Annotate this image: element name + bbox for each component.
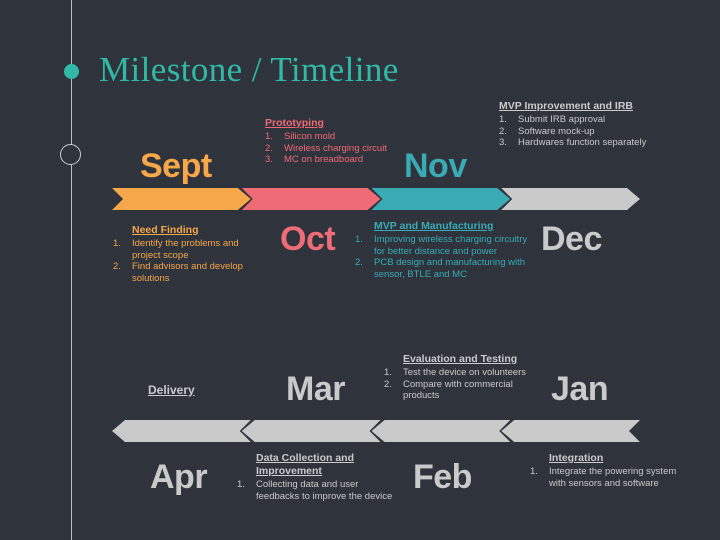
list-item-number: 1. (237, 479, 256, 502)
month-label-nov: Nov (404, 147, 467, 186)
list-item-text: Software mock-up (518, 126, 684, 138)
milestone-heading: Need Finding (132, 224, 258, 237)
milestone-block-integration: Integration 1.Integrate the powering sys… (530, 452, 685, 489)
list-item: 1.Test the device on volunteers (384, 367, 544, 379)
left-rail-line (71, 0, 72, 540)
list-item-number: 1. (384, 367, 403, 379)
list-item-number: 1. (113, 238, 132, 261)
list-item-number: 2. (499, 126, 518, 138)
timeline-band-upper (112, 188, 640, 210)
list-item: 2.Find advisors and develop solutions (113, 261, 258, 284)
milestone-heading: Prototyping (265, 117, 405, 130)
list-item-text: Wireless charging circuit (284, 143, 405, 155)
list-item-text: Hardwares function separately (518, 137, 684, 149)
slide-canvas: Milestone / Timeline Sept Nov Oct Dec Pr… (0, 0, 720, 540)
milestone-item-list: 1.Silicon mold 2.Wireless charging circu… (265, 131, 405, 166)
list-item-text: PCB design and manufacturing with sensor… (374, 257, 535, 280)
list-item-text: MC on breadboard (284, 154, 405, 166)
milestone-heading: Data Collection and Improvement (256, 452, 397, 478)
milestone-block-prototyping: Prototyping 1.Silicon mold 2.Wireless ch… (265, 117, 405, 166)
list-item: 2.Software mock-up (499, 126, 684, 138)
list-item-number: 1. (265, 131, 284, 143)
list-item: 1.Improving wireless charging circuitry … (355, 234, 535, 257)
list-item-number: 2. (113, 261, 132, 284)
list-item: 2.PCB design and manufacturing with sens… (355, 257, 535, 280)
month-label-apr: Apr (150, 458, 207, 497)
segment-apr[interactable] (112, 420, 251, 442)
list-item-number: 2. (384, 379, 403, 402)
segment-feb[interactable] (372, 420, 511, 442)
milestone-block-evaluation-testing: Evaluation and Testing 1.Test the device… (384, 353, 544, 402)
list-item-number: 1. (355, 234, 374, 257)
milestone-heading: MVP and Manufacturing (374, 220, 535, 233)
segment-jan[interactable] (501, 420, 640, 442)
segment-mar[interactable] (242, 420, 381, 442)
list-item-text: Identify the problems and project scope (132, 238, 258, 261)
list-item-text: Integrate the powering system with senso… (549, 466, 685, 489)
list-item-text: Find advisors and develop solutions (132, 261, 258, 284)
milestone-block-data-collection: Data Collection and Improvement 1.Collec… (237, 452, 397, 502)
list-item-text: Test the device on volunteers (403, 367, 544, 379)
rail-open-circle-icon (60, 144, 81, 165)
milestone-item-list: 1.Submit IRB approval 2.Software mock-up… (499, 114, 684, 149)
list-item-text: Silicon mold (284, 131, 405, 143)
month-label-dec: Dec (541, 220, 602, 259)
milestone-heading: Integration (549, 452, 685, 465)
list-item: 1.Collecting data and user feedbacks to … (237, 479, 397, 502)
list-item: 1.Integrate the powering system with sen… (530, 466, 685, 489)
milestone-block-mvp-manufacturing: MVP and Manufacturing 1.Improving wirele… (355, 220, 535, 280)
milestone-block-mvp-improvement: MVP Improvement and IRB 1.Submit IRB app… (499, 100, 684, 149)
list-item-number: 2. (355, 257, 374, 280)
list-item: 3.Hardwares function separately (499, 137, 684, 149)
list-item-number: 3. (499, 137, 518, 149)
milestone-heading: Evaluation and Testing (403, 353, 544, 366)
list-item: 1.Silicon mold (265, 131, 405, 143)
milestone-item-list: 1.Test the device on volunteers 2.Compar… (384, 367, 544, 402)
rail-filled-dot-icon (64, 64, 79, 79)
list-item-number: 3. (265, 154, 284, 166)
list-item-text: Compare with commercial products (403, 379, 544, 402)
month-label-mar: Mar (286, 370, 345, 409)
list-item: 1.Submit IRB approval (499, 114, 684, 126)
list-item: 1.Identify the problems and project scop… (113, 238, 258, 261)
list-item-number: 1. (530, 466, 549, 489)
milestone-block-delivery: Delivery (148, 384, 258, 398)
segment-dec[interactable] (501, 188, 640, 210)
list-item-number: 1. (499, 114, 518, 126)
timeline-band-lower (112, 420, 640, 442)
milestone-block-need-finding: Need Finding 1.Identify the problems and… (113, 224, 258, 284)
milestone-heading: MVP Improvement and IRB (499, 100, 684, 113)
list-item: 2.Compare with commercial products (384, 379, 544, 402)
month-label-sept: Sept (140, 147, 212, 186)
segment-oct[interactable] (242, 188, 381, 210)
list-item: 2.Wireless charging circuit (265, 143, 405, 155)
segment-sept[interactable] (112, 188, 251, 210)
segment-nov[interactable] (372, 188, 511, 210)
month-label-jan: Jan (551, 370, 608, 409)
list-item-text: Submit IRB approval (518, 114, 684, 126)
list-item: 3.MC on breadboard (265, 154, 405, 166)
list-item-number: 2. (265, 143, 284, 155)
month-label-feb: Feb (413, 458, 472, 497)
page-title: Milestone / Timeline (99, 50, 399, 90)
month-label-oct: Oct (280, 220, 335, 259)
milestone-item-list: 1.Collecting data and user feedbacks to … (237, 479, 397, 502)
list-item-text: Collecting data and user feedbacks to im… (256, 479, 397, 502)
milestone-item-list: 1.Improving wireless charging circuitry … (355, 234, 535, 280)
milestone-item-list: 1.Identify the problems and project scop… (113, 238, 258, 284)
milestone-heading: Delivery (148, 384, 258, 397)
list-item-text: Improving wireless charging circuitry fo… (374, 234, 535, 257)
milestone-item-list: 1.Integrate the powering system with sen… (530, 466, 685, 489)
